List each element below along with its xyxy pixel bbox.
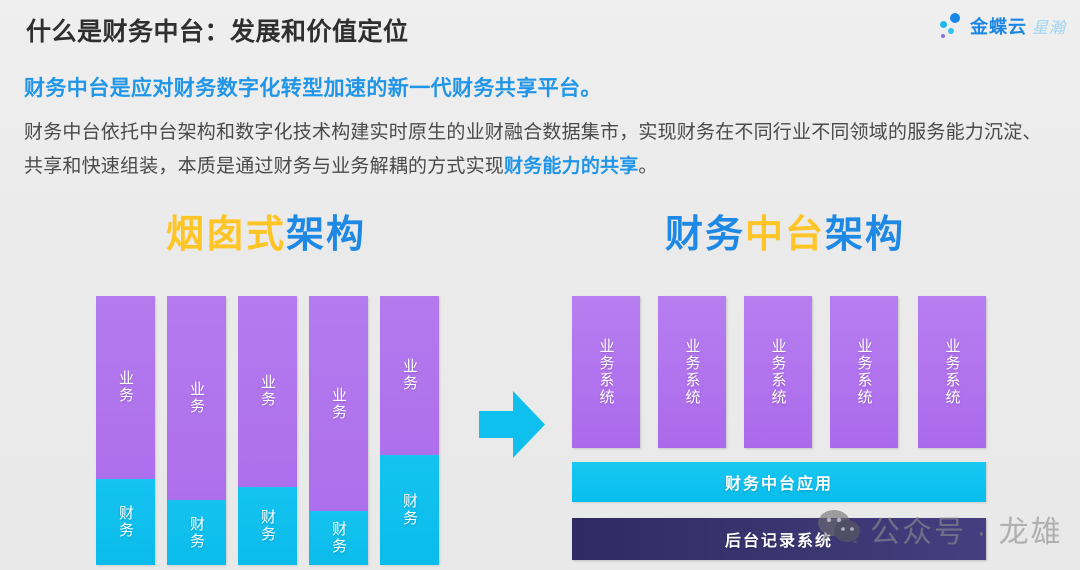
silo-finance-label: 财务 [186, 516, 207, 550]
left-section-heading: 烟囱式架构 [166, 203, 366, 258]
arrow-right-icon [479, 389, 545, 460]
brand-logo: 金蝶云 星瀚 [939, 10, 1066, 42]
silo-business-segment: 业务 [96, 296, 155, 479]
silo-finance-segment: 财务 [167, 500, 226, 565]
silo-business-label: 业务 [257, 374, 278, 408]
silo-finance-segment: 财务 [309, 511, 368, 565]
silo-business-segment: 业务 [309, 296, 368, 511]
business-system-label: 业务系统 [682, 338, 703, 406]
silo-business-label: 业务 [328, 387, 349, 421]
business-system-column: 业务系统 [830, 296, 898, 448]
silo-finance-segment: 财务 [238, 487, 297, 565]
business-system-column: 业务系统 [572, 296, 640, 448]
silo-business-segment: 业务 [380, 296, 439, 455]
silo-business-label: 业务 [186, 381, 207, 415]
silo-column: 业务 财务 [96, 296, 155, 565]
right-heading-prefix: 财务 [665, 214, 745, 256]
left-heading-emphasis: 烟囱式 [166, 214, 286, 256]
page-title: 什么是财务中台：发展和价值定位 [26, 12, 409, 48]
right-heading-suffix: 架构 [825, 214, 905, 256]
brand-subname: 星瀚 [1032, 14, 1066, 38]
business-system-label: 业务系统 [768, 338, 789, 406]
silo-business-segment: 业务 [238, 296, 297, 487]
business-system-label: 业务系统 [854, 338, 875, 406]
brand-dots-icon [939, 12, 965, 40]
silo-business-label: 业务 [115, 370, 136, 404]
business-system-column: 业务系统 [918, 296, 986, 448]
silo-finance-label: 财务 [399, 493, 420, 527]
left-heading-suffix: 架构 [286, 214, 366, 256]
brand-name: 金蝶云 [970, 13, 1027, 39]
business-system-column: 业务系统 [744, 296, 812, 448]
silo-business-label: 业务 [399, 358, 420, 392]
body-text-highlight: 财务能力的共享 [504, 156, 638, 177]
silo-finance-segment: 财务 [380, 455, 439, 565]
backend-record-system-bar: 后台记录系统 [572, 518, 986, 560]
right-heading-emphasis: 中台 [745, 214, 825, 256]
business-system-label: 业务系统 [942, 338, 963, 406]
finance-platform-bar: 财务中台应用 [572, 462, 986, 502]
silo-column: 业务 财务 [238, 296, 297, 565]
slide-canvas: 什么是财务中台：发展和价值定位 金蝶云 星瀚 财务中台是应对财务数字化转型加速的… [0, 0, 1080, 570]
silo-column: 业务 财务 [380, 296, 439, 565]
business-system-column: 业务系统 [658, 296, 726, 448]
body-text-part2: 。 [638, 156, 657, 177]
business-system-label: 业务系统 [596, 338, 617, 406]
silo-finance-label: 财务 [328, 521, 349, 555]
silo-business-segment: 业务 [167, 296, 226, 500]
body-paragraph: 财务中台依托中台架构和数字化技术构建实时原生的业财融合数据集市，实现财务在不同行… [24, 116, 1054, 184]
silo-finance-label: 财务 [257, 509, 278, 543]
lead-statement: 财务中台是应对财务数字化转型加速的新一代财务共享平台。 [24, 72, 602, 102]
silo-column: 业务 财务 [167, 296, 226, 565]
silo-finance-segment: 财务 [96, 479, 155, 565]
silo-column: 业务 财务 [309, 296, 368, 565]
right-section-heading: 财务中台架构 [665, 203, 905, 258]
silo-finance-label: 财务 [115, 505, 136, 539]
